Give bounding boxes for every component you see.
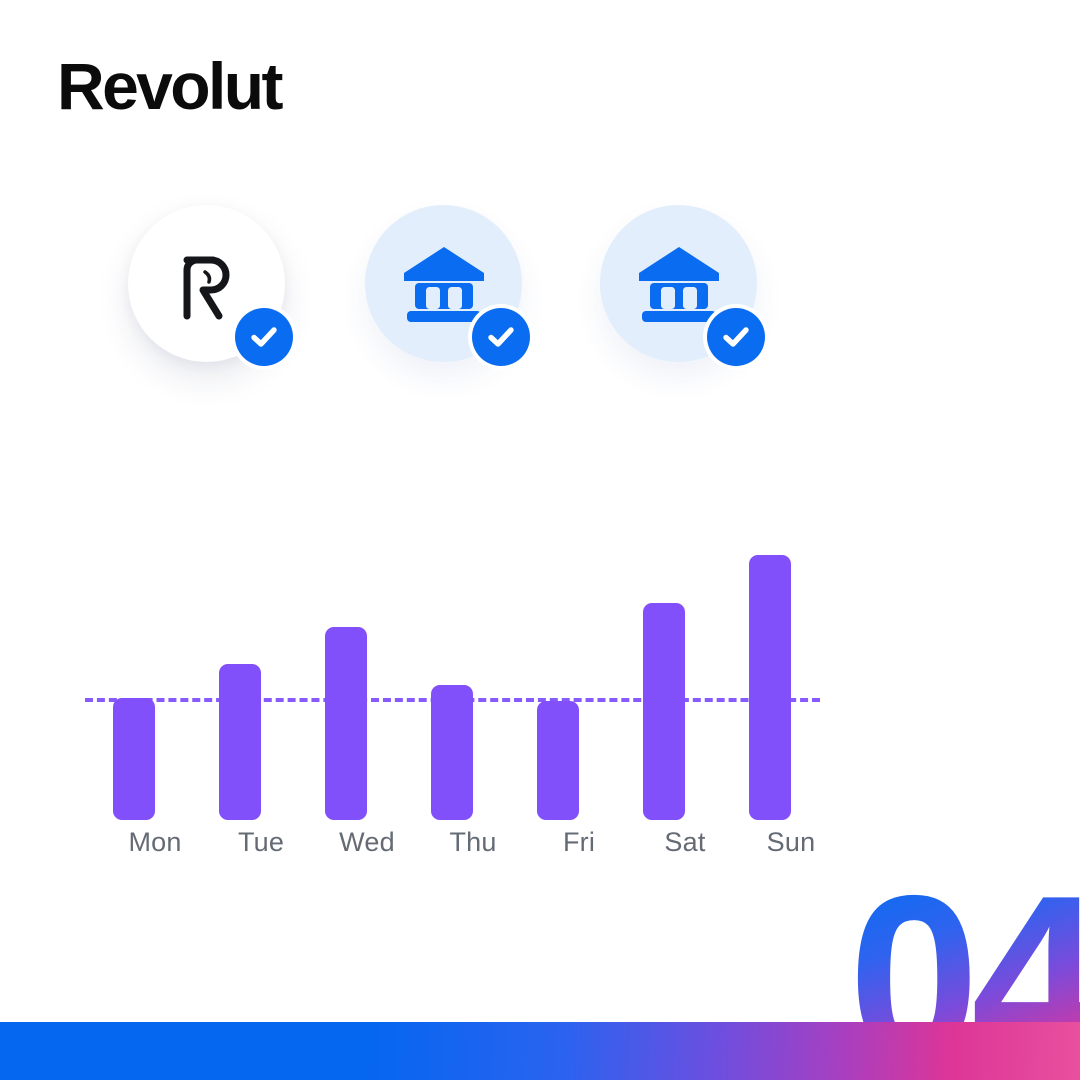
chart-x-label: Sun xyxy=(736,827,846,858)
chart-bar[interactable] xyxy=(431,685,473,820)
chart-x-axis: MonTueWedThuFriSatSun xyxy=(85,827,820,873)
footer-gradient-bar xyxy=(0,1022,1080,1080)
weekly-spending-chart: MonTueWedThuFriSatSun xyxy=(85,555,820,875)
chart-bar[interactable] xyxy=(113,698,155,820)
chart-x-label: Tue xyxy=(206,827,316,858)
chart-x-label: Thu xyxy=(418,827,528,858)
wordmark-text: Revolut xyxy=(57,57,283,121)
chart-x-label: Wed xyxy=(312,827,422,858)
verified-accounts-row xyxy=(128,205,788,385)
verified-badge xyxy=(703,304,769,370)
slide-canvas: Revolut xyxy=(0,0,1080,1080)
chart-bar[interactable] xyxy=(219,664,261,820)
chart-bar[interactable] xyxy=(749,555,791,820)
check-icon xyxy=(485,321,517,353)
revolut-wordmark: Revolut xyxy=(57,57,477,121)
verified-badge xyxy=(468,304,534,370)
chart-bar[interactable] xyxy=(643,603,685,820)
account-chip-bank-2[interactable] xyxy=(600,205,757,362)
account-chip-bank-1[interactable] xyxy=(365,205,522,362)
chart-x-label: Mon xyxy=(100,827,210,858)
chart-bar[interactable] xyxy=(325,627,367,820)
check-icon xyxy=(720,321,752,353)
check-icon xyxy=(248,321,280,353)
chart-plot-area xyxy=(85,555,820,825)
verified-badge xyxy=(231,304,297,370)
bank-icon xyxy=(636,241,722,327)
chart-bar[interactable] xyxy=(537,701,579,820)
chart-x-label: Fri xyxy=(524,827,634,858)
bank-icon xyxy=(401,241,487,327)
chart-x-label: Sat xyxy=(630,827,740,858)
revolut-r-icon xyxy=(165,242,249,326)
account-chip-revolut[interactable] xyxy=(128,205,285,362)
